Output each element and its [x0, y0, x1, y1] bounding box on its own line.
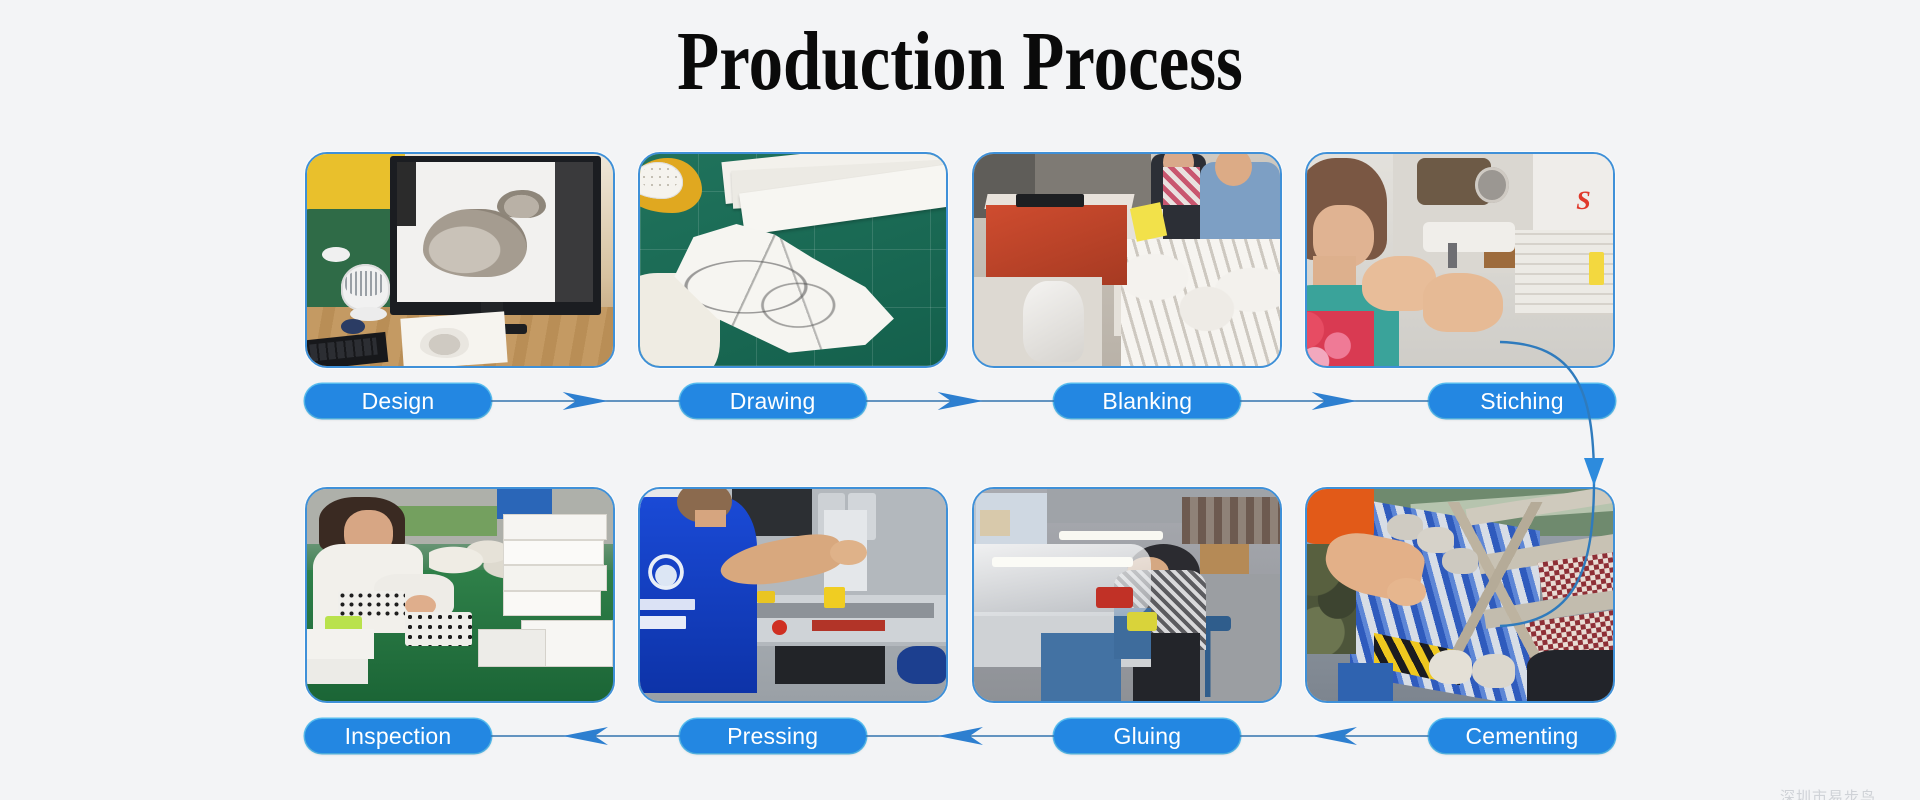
watermark-text: 深圳市易步鸟: [1780, 786, 1876, 800]
step-label-inspection[interactable]: Inspection: [305, 719, 491, 753]
connector-drawing-to-blanking: [866, 384, 1055, 418]
step-image-design: [307, 154, 613, 366]
step-card-drawing[interactable]: [638, 152, 948, 368]
connector-cementing-to-gluing: [1240, 719, 1429, 753]
connector-pressing-to-inspection: [491, 719, 680, 753]
flow-row-bottom: Inspection Pressing Gluing: [0, 487, 1920, 755]
step-image-drawing: [640, 154, 946, 366]
step-card-design[interactable]: [305, 152, 615, 368]
step-label-cementing[interactable]: Cementing: [1429, 719, 1615, 753]
step-card-blanking[interactable]: [972, 152, 1282, 368]
step-image-gluing: [974, 489, 1280, 701]
production-process-page: Production Process: [0, 0, 1920, 800]
step-image-stiching: S: [1307, 154, 1613, 366]
step-card-inspection[interactable]: [305, 487, 615, 703]
step-image-pressing: [640, 489, 946, 701]
step-label-stiching[interactable]: Stiching: [1429, 384, 1615, 418]
step-image-cementing: [1307, 489, 1613, 701]
label-row-top: Design Drawing Blanking: [305, 382, 1615, 420]
flow-row-top: S Design Drawing Blanking: [0, 152, 1920, 420]
label-row-bottom: Inspection Pressing Gluing: [305, 717, 1615, 755]
step-label-gluing[interactable]: Gluing: [1054, 719, 1240, 753]
connector-blanking-to-stiching: [1240, 384, 1429, 418]
step-image-blanking: [974, 154, 1280, 366]
step-label-drawing[interactable]: Drawing: [680, 384, 866, 418]
step-card-stiching[interactable]: S: [1305, 152, 1615, 368]
page-title: Production Process: [173, 20, 1747, 104]
card-row-top: S: [305, 152, 1615, 368]
card-row-bottom: [305, 487, 1615, 703]
step-label-pressing[interactable]: Pressing: [680, 719, 866, 753]
step-image-inspection: [307, 489, 613, 701]
step-card-pressing[interactable]: [638, 487, 948, 703]
connector-design-to-drawing: [491, 384, 680, 418]
step-card-cementing[interactable]: [1305, 487, 1615, 703]
step-label-design[interactable]: Design: [305, 384, 491, 418]
step-card-gluing[interactable]: [972, 487, 1282, 703]
connector-gluing-to-pressing: [866, 719, 1055, 753]
step-label-blanking[interactable]: Blanking: [1054, 384, 1240, 418]
